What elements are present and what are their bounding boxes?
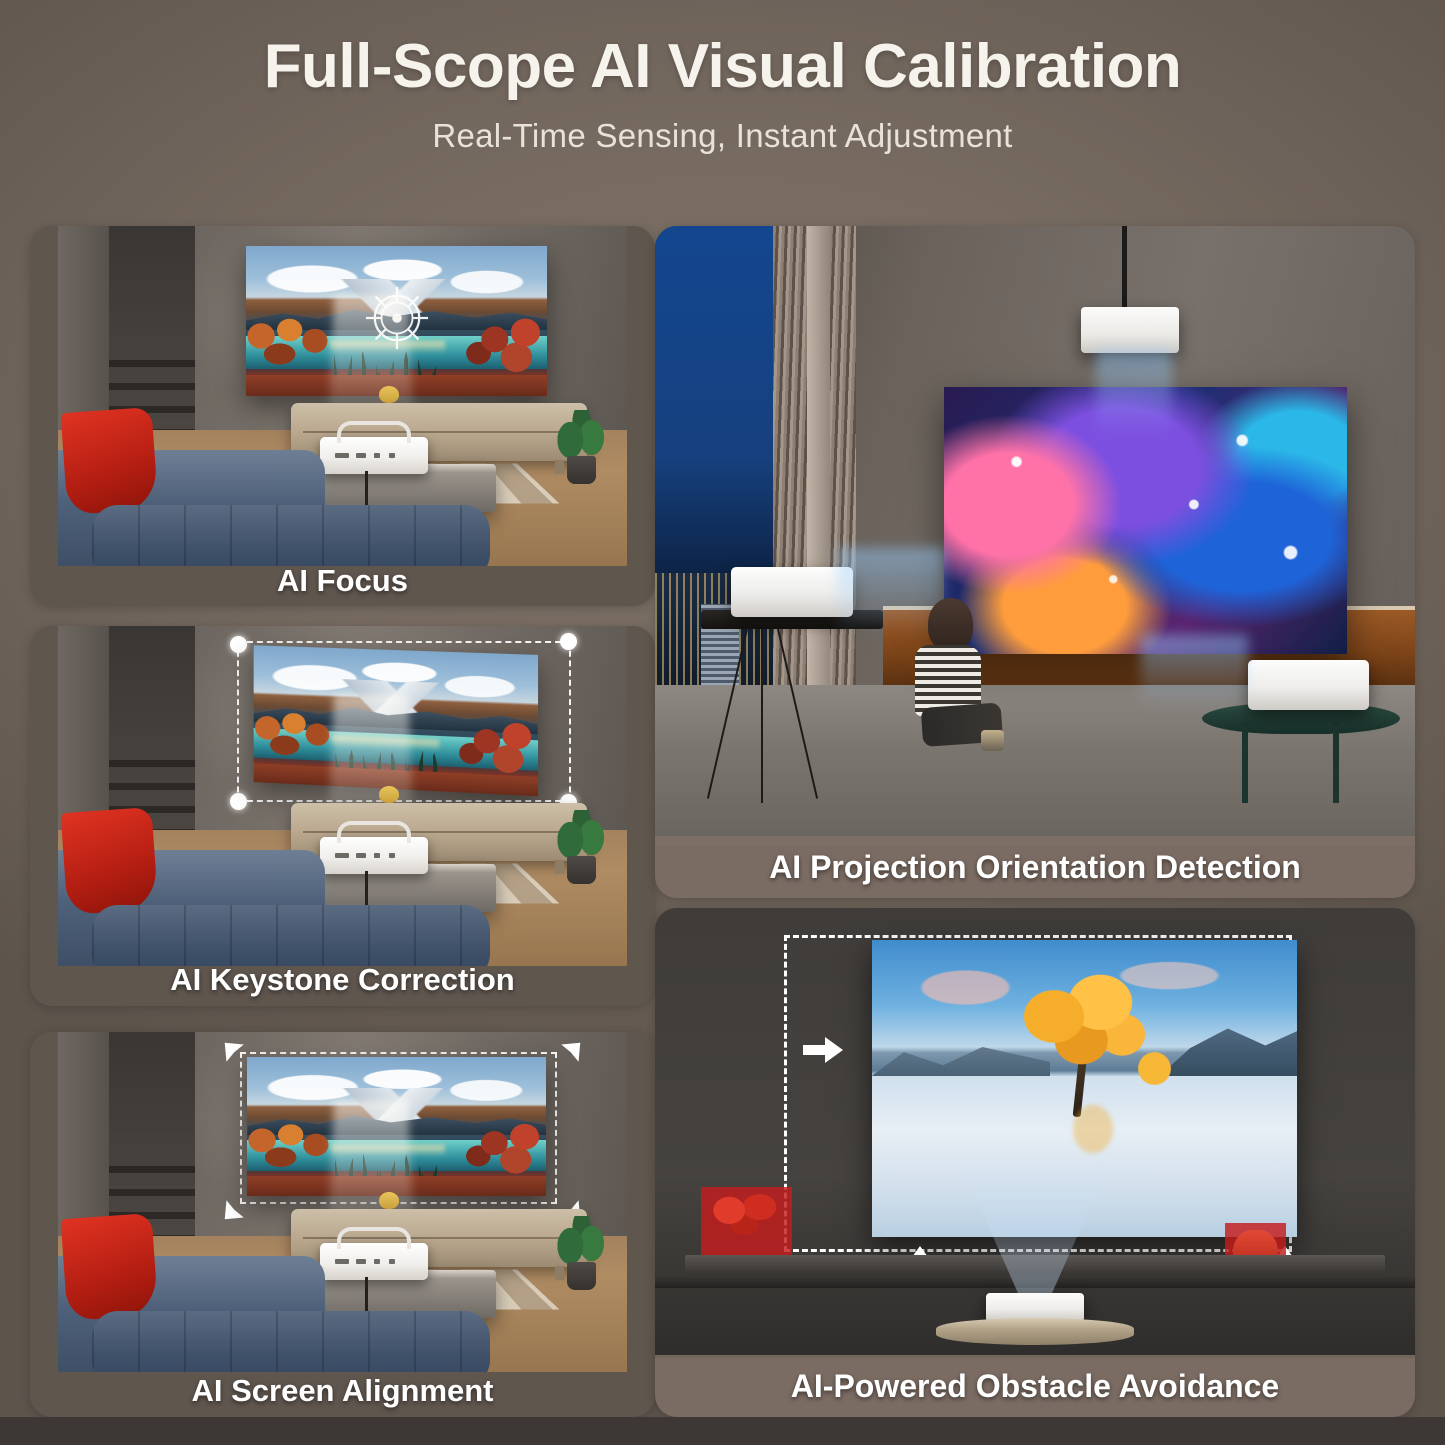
ai-obstacle-photo <box>655 908 1415 1358</box>
living-room-scene <box>58 626 627 966</box>
panel-ai-focus[interactable]: AI Focus <box>30 226 655 606</box>
child-head <box>928 598 974 651</box>
page-subtitle: Real-Time Sensing, Instant Adjustment <box>0 117 1445 155</box>
ai-alignment-photo <box>58 1032 627 1372</box>
keystone-handle-bl[interactable] <box>230 793 247 810</box>
panel-caption: AI Focus <box>30 556 655 606</box>
panel-ai-keystone-correction[interactable]: AI Keystone Correction <box>30 626 655 1006</box>
panel-caption: AI-Powered Obstacle Avoidance <box>655 1355 1415 1417</box>
child-viewer <box>906 598 997 759</box>
corner-arrow-icon <box>223 1195 249 1221</box>
ai-orientation-photo <box>655 226 1415 846</box>
round-table-leg <box>1333 722 1339 803</box>
tripod-leg <box>761 629 763 803</box>
panel-ai-projection-orientation-detection[interactable]: AI Projection Orientation Detection <box>655 226 1415 898</box>
red-throw-blanket <box>60 807 158 915</box>
corner-arrow-icon <box>556 1041 582 1067</box>
panel-caption: AI Projection Orientation Detection <box>655 836 1415 898</box>
projector-device <box>320 837 428 874</box>
red-throw-blanket <box>60 1213 158 1321</box>
potted-plant <box>556 816 607 884</box>
projector-device <box>320 1243 428 1280</box>
panel-ai-screen-alignment[interactable]: AI Screen Alignment <box>30 1032 655 1417</box>
round-table-projector <box>1248 660 1370 710</box>
potted-plant <box>556 416 607 484</box>
red-throw-blanket <box>60 407 158 515</box>
corner-arrow-icon <box>223 1041 249 1067</box>
ottoman <box>92 1311 490 1372</box>
ceiling-projector-beam <box>1096 350 1172 437</box>
marketing-image: Full-Scope AI Visual Calibration Real-Ti… <box>0 0 1445 1445</box>
round-projector-beam <box>1141 635 1247 709</box>
shelf-wall-scene <box>655 908 1415 1358</box>
potted-plant <box>556 1222 607 1290</box>
ai-focus-photo <box>58 226 627 566</box>
obstacle-plant <box>704 1192 788 1246</box>
living-room-scene <box>58 226 627 566</box>
shift-arrow-right-icon <box>803 1036 843 1064</box>
ceiling-projector <box>1081 307 1180 354</box>
round-table-leg <box>1242 722 1248 803</box>
header: Full-Scope AI Visual Calibration Real-Ti… <box>0 0 1445 155</box>
projector-device <box>320 437 428 474</box>
panel-caption: AI Screen Alignment <box>30 1365 655 1417</box>
console-vase <box>379 1192 399 1209</box>
child-shoe <box>981 730 1005 751</box>
console-vase <box>379 786 399 803</box>
console-vase <box>379 386 399 403</box>
round-coffee-table <box>936 1318 1134 1345</box>
panel-caption: AI Keystone Correction <box>30 954 655 1006</box>
night-living-room-scene <box>655 226 1415 846</box>
table-projector <box>731 567 853 617</box>
panel-ai-powered-obstacle-avoidance[interactable]: AI-Powered Obstacle Avoidance <box>655 908 1415 1417</box>
ceiling-mount-rod <box>1122 226 1127 307</box>
living-room-scene <box>58 1032 627 1372</box>
ai-keystone-photo <box>58 626 627 966</box>
page-title: Full-Scope AI Visual Calibration <box>0 34 1445 99</box>
